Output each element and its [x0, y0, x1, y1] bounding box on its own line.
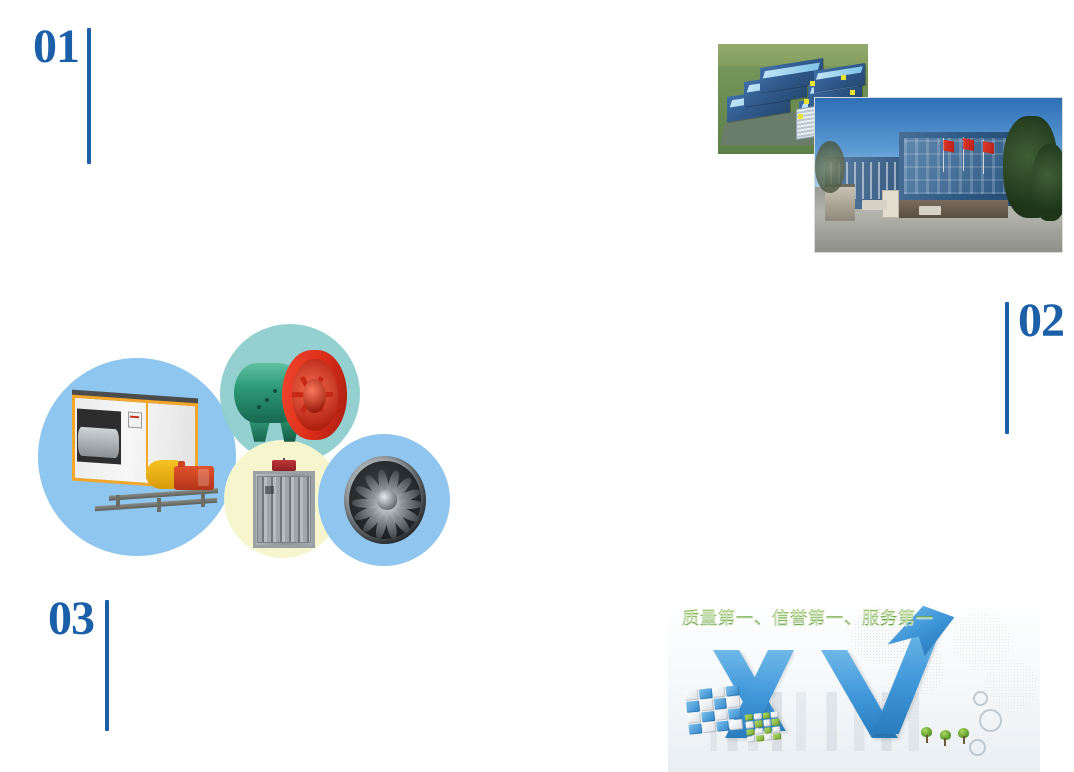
section-number-02: 02: [1018, 298, 1064, 344]
cube: [747, 735, 755, 742]
cube: [753, 713, 761, 720]
blue-cube-cluster: [684, 685, 742, 734]
cube: [687, 712, 701, 724]
cube: [756, 734, 764, 741]
photo-boundary-wall: [889, 200, 1008, 218]
render-marker-dot: [804, 99, 809, 104]
damper-label-plate: [265, 486, 275, 494]
photo-vehicle: [862, 200, 887, 211]
section-rule-03: [105, 600, 109, 731]
cube: [772, 725, 780, 732]
tree-icon: [921, 727, 932, 743]
casing-bolt: [273, 389, 277, 393]
cube: [746, 728, 754, 735]
slogan-text: 质量第一、信誉第一、服务第一: [682, 604, 934, 629]
decorative-circle-icon: [973, 691, 988, 706]
render-marker-dot: [798, 114, 803, 119]
cube: [772, 718, 780, 725]
cube: [725, 685, 739, 697]
cube: [688, 723, 702, 735]
red-flag-icon: [963, 138, 974, 151]
photo-tree: [1032, 144, 1063, 221]
cube: [715, 720, 729, 732]
tree-trunk: [944, 738, 946, 746]
cube: [764, 726, 772, 733]
cube: [755, 727, 763, 734]
cube: [764, 733, 772, 740]
decorative-circle-icon: [969, 739, 986, 756]
red-flag-icon: [943, 140, 954, 153]
green-cube-cluster: [745, 711, 782, 742]
render-marker-dot: [810, 81, 815, 86]
product-showcase-cluster: [36, 324, 426, 554]
cube: [700, 711, 714, 723]
casing-bolt: [265, 398, 269, 402]
cube: [745, 714, 753, 721]
impeller-hub: [377, 490, 397, 509]
photo-vehicle: [919, 206, 941, 215]
cube: [728, 708, 742, 720]
page-canvas: 01 02 03: [0, 0, 1074, 772]
red-flag-icon: [983, 141, 994, 154]
fan-leg: [157, 498, 161, 512]
cube: [698, 688, 712, 700]
cube: [684, 690, 698, 702]
cube: [762, 712, 770, 719]
section-number-01: 01: [33, 24, 79, 70]
tree-trunk: [963, 736, 965, 744]
render-marker-dot: [841, 75, 846, 80]
casing-bolt: [257, 405, 261, 409]
fan-control-box: [128, 412, 142, 429]
product-image-metal-impeller: [336, 452, 438, 548]
tree-icon: [958, 728, 969, 744]
tree-trunk: [926, 735, 928, 743]
cube: [745, 721, 753, 728]
fan-leg: [116, 495, 120, 509]
section-marker-01: 01: [33, 24, 91, 164]
tree-icon: [940, 730, 951, 746]
cube: [727, 696, 741, 708]
cube: [729, 719, 743, 731]
section-number-03: 03: [48, 596, 94, 642]
product-image-fire-damper: [250, 458, 318, 550]
cube: [773, 732, 781, 739]
cube: [712, 687, 726, 699]
cube: [714, 709, 728, 721]
cube: [713, 698, 727, 710]
fan-leg: [201, 493, 205, 507]
cube: [702, 722, 716, 734]
fan-wheel: [78, 427, 119, 459]
section-rule-02: [1005, 302, 1009, 434]
quality-slogan-banner: 质量第一、信誉第一、服务第一: [668, 597, 1040, 772]
cube: [699, 699, 713, 711]
photo-tree: [815, 141, 845, 193]
cube: [754, 720, 762, 727]
damper-actuator: [272, 460, 295, 471]
section-marker-02: 02: [1005, 298, 1064, 434]
render-marker-dot: [850, 90, 855, 95]
product-image-axial-flow-fan: [232, 344, 352, 448]
fan-motor: [174, 466, 215, 490]
cube: [686, 701, 700, 713]
section-rule-01: [87, 28, 91, 164]
cube: [771, 711, 779, 718]
section-marker-03: 03: [48, 596, 109, 731]
product-image-box-type-centrifugal-fan: [58, 392, 228, 512]
decorative-circle-icon: [979, 709, 1002, 732]
axial-fan-hub: [303, 379, 326, 412]
cube: [763, 719, 771, 726]
office-building-photo: [814, 97, 1063, 253]
